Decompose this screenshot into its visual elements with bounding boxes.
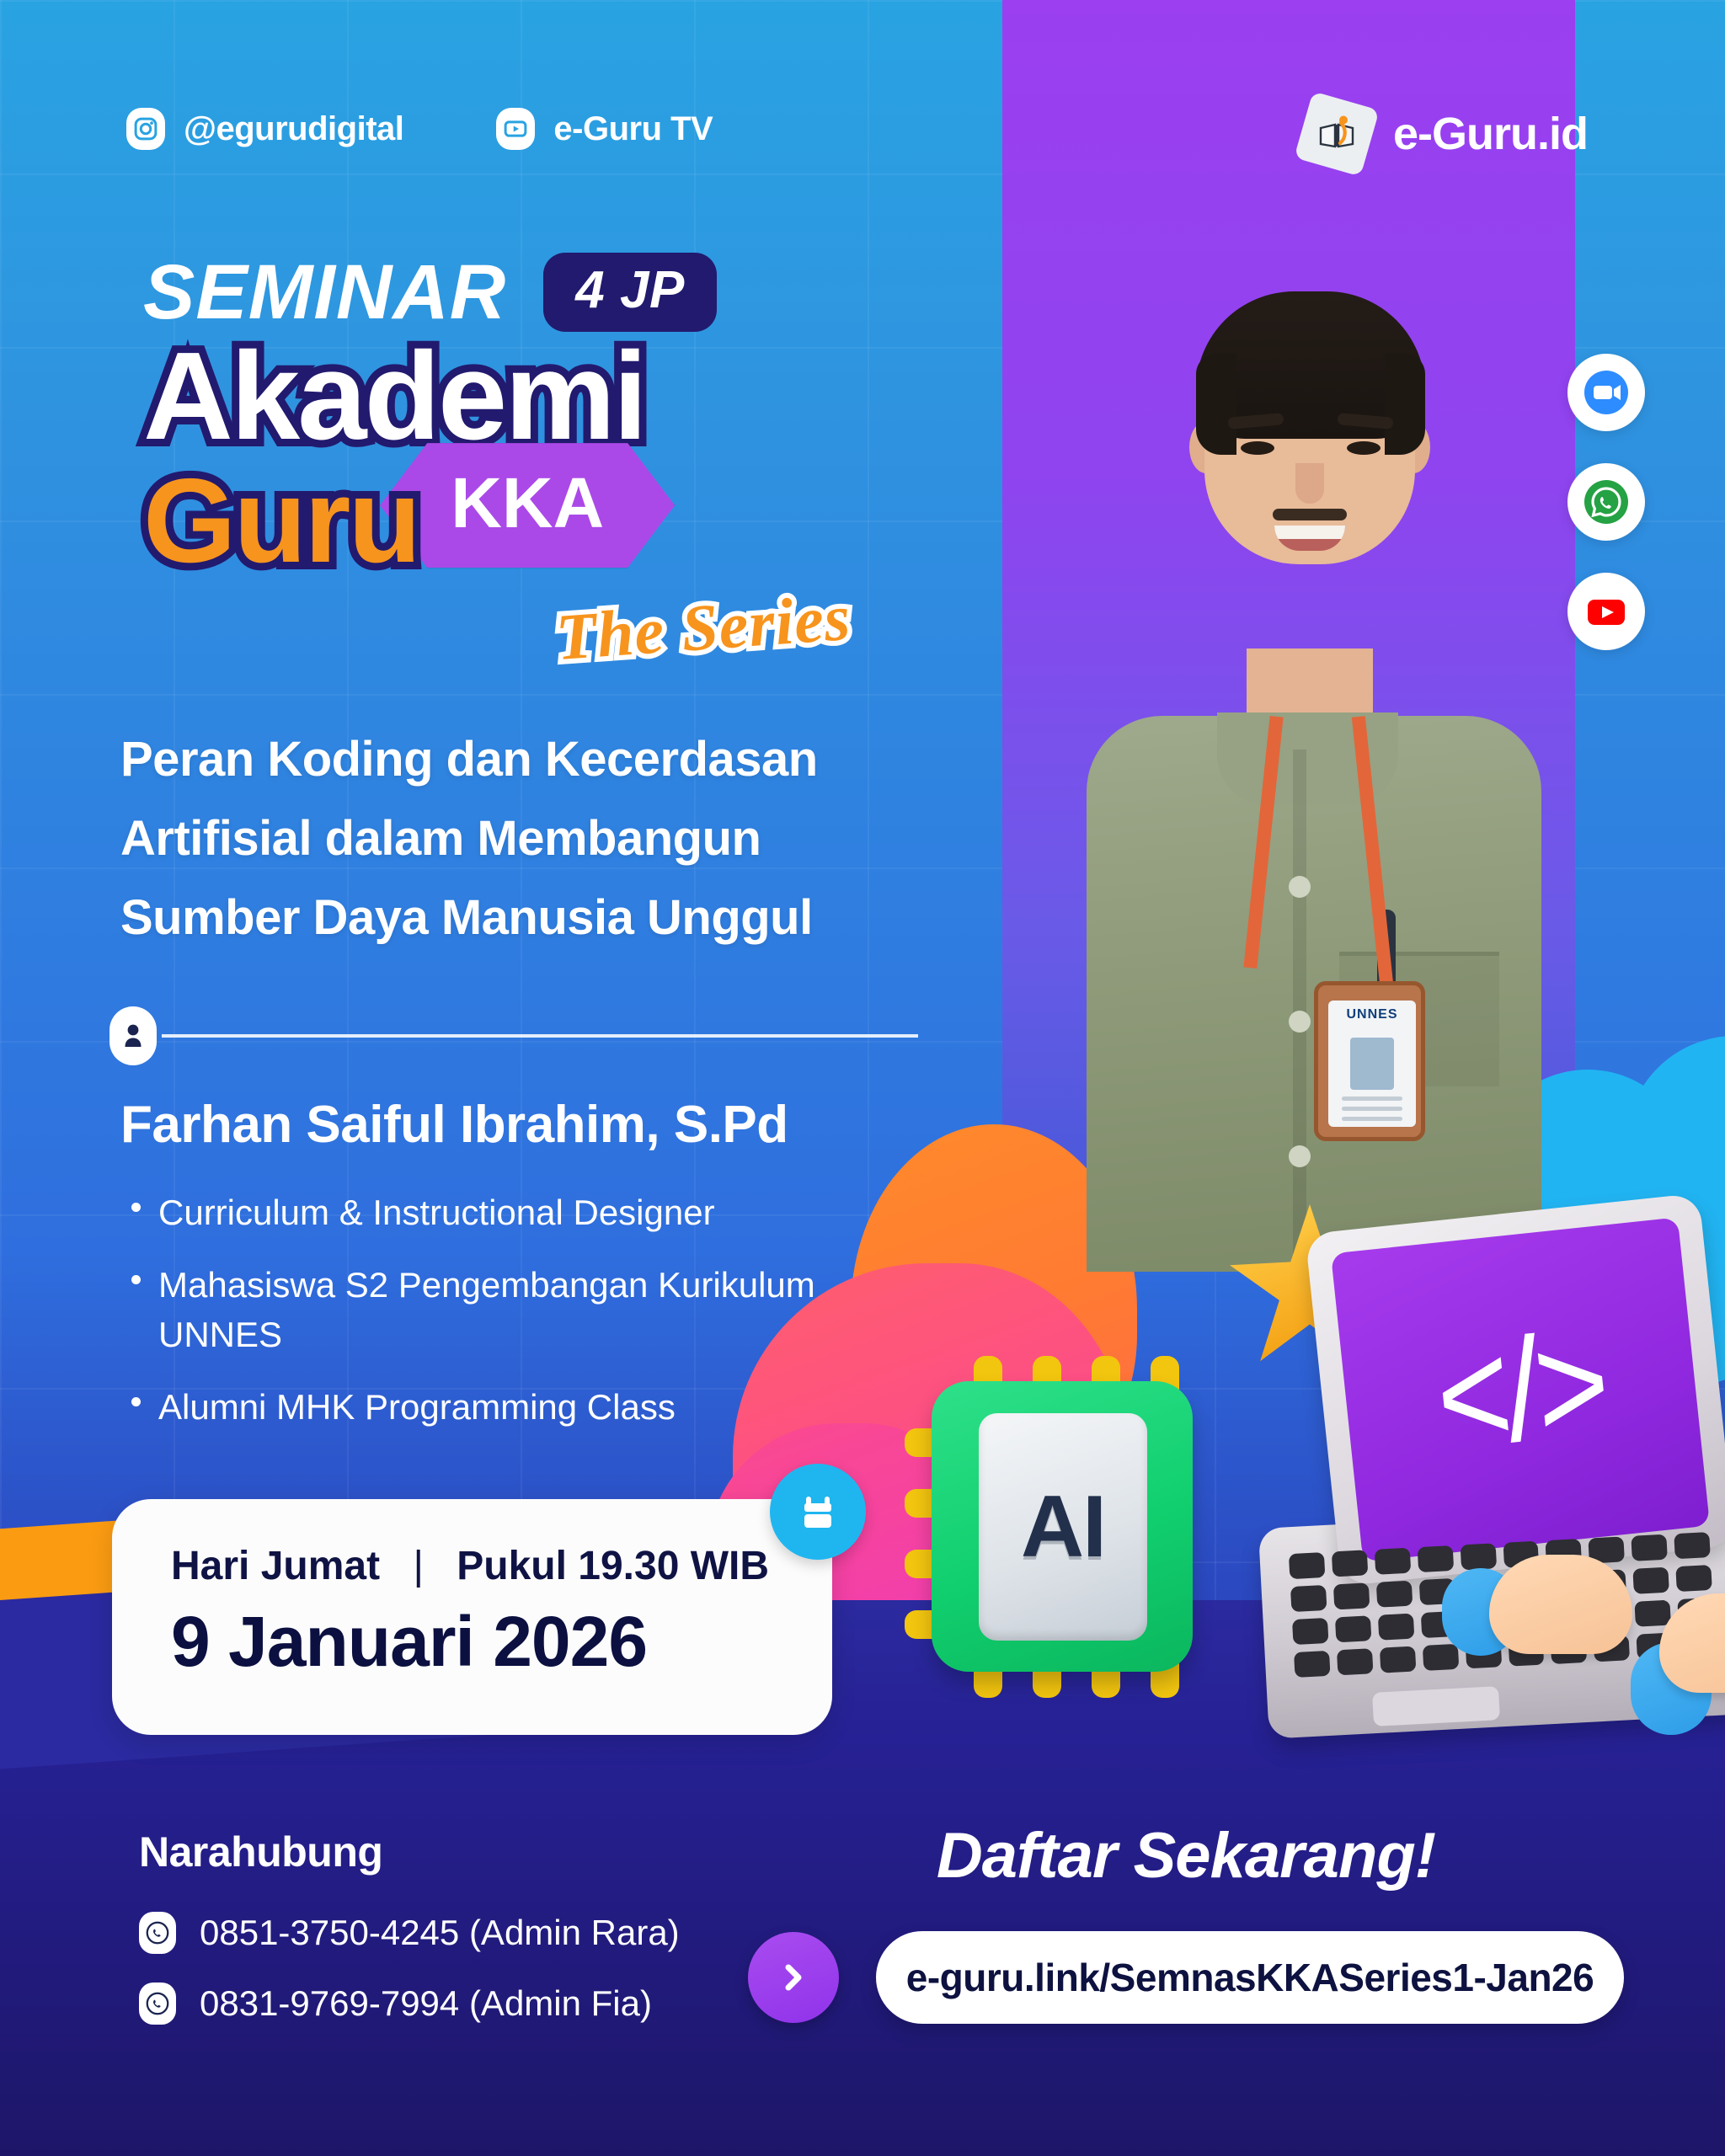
event-time: Pukul 19.30 WIB	[457, 1544, 769, 1588]
subtitle-line-1: Peran Koding dan Kecerdasan	[120, 720, 818, 799]
whatsapp-icon	[139, 1983, 176, 2025]
speaker-photo: UNNES	[1036, 211, 1575, 1263]
whatsapp-icon[interactable]	[1567, 463, 1645, 541]
cta-section: Daftar Sekarang! e-guru.link/SemnasKKASe…	[748, 1819, 1624, 2024]
brand-name: e-Guru.id	[1393, 108, 1588, 160]
zoom-icon[interactable]	[1567, 354, 1645, 431]
event-date: 9 Januari 2026	[171, 1601, 832, 1683]
subtitle-line-2: Artifisial dalam Membangun	[120, 799, 818, 878]
contact-text: 0831-9769-7994 (Admin Fia)	[200, 1983, 652, 2024]
book-logo-icon	[1294, 91, 1379, 176]
event-separator: |	[413, 1544, 423, 1588]
contact-row[interactable]: 0831-9769-7994 (Admin Fia)	[139, 1983, 680, 2025]
contact-row[interactable]: 0851-3750-4245 (Admin Rara)	[139, 1912, 680, 1954]
jp-badge: 4 JP	[543, 253, 717, 332]
registration-link-pill[interactable]: e-guru.link/SemnasKKASeries1-Jan26	[876, 1931, 1624, 2024]
whatsapp-icon	[139, 1912, 176, 1954]
youtube-icon	[496, 108, 535, 150]
seminar-poster: UNNES @egurudigital	[0, 0, 1725, 2156]
seminar-kicker: SEMINAR	[143, 253, 506, 331]
side-social-buttons	[1567, 354, 1645, 650]
seminar-subtitle: Peran Koding dan Kecerdasan Artifisial d…	[120, 720, 818, 958]
youtube-icon[interactable]	[1567, 573, 1645, 650]
ai-chip-label: AI	[1021, 1477, 1105, 1577]
the-series-script: The Series	[553, 579, 853, 675]
header-youtube[interactable]: e-Guru TV	[496, 108, 713, 150]
contact-section: Narahubung 0851-3750-4245 (Admin Rara) 0…	[139, 1828, 680, 2053]
person-icon	[109, 1006, 157, 1065]
brand-logo[interactable]: e-Guru.id	[1302, 99, 1588, 168]
kka-hex-badge: KKA	[380, 443, 675, 568]
ai-chip-plate: AI	[979, 1413, 1147, 1641]
title-line-akademi: Akademi	[143, 337, 717, 456]
header-instagram-label: @egurudigital	[184, 110, 403, 148]
contact-heading: Narahubung	[139, 1828, 680, 1876]
id-badge-text: UNNES	[1328, 1007, 1416, 1022]
cta-link-row[interactable]: e-guru.link/SemnasKKASeries1-Jan26	[748, 1931, 1624, 2024]
event-date-card: Hari Jumat | Pukul 19.30 WIB 9 Januari 2…	[112, 1499, 832, 1735]
laptop-illustration: </>	[1263, 1213, 1725, 1735]
event-day-time: Hari Jumat | Pukul 19.30 WIB	[171, 1543, 832, 1589]
header-youtube-label: e-Guru TV	[553, 110, 713, 148]
speaker-name: Farhan Saiful Ibrahim, S.Pd	[120, 1095, 788, 1155]
instagram-icon	[126, 108, 165, 150]
title-block: SEMINAR 4 JP Akademi Guru KKA	[143, 253, 717, 581]
contact-text: 0851-3750-4245 (Admin Rara)	[200, 1913, 680, 1953]
id-badge: UNNES	[1314, 981, 1425, 1141]
code-glyph: </>	[1429, 1298, 1613, 1482]
chevron-right-icon[interactable]	[748, 1932, 839, 2023]
ai-chip-illustration: AI	[893, 1347, 1230, 1710]
header-social-bar: @egurudigital e-Guru TV	[126, 108, 713, 150]
speaker-credentials: Curriculum & Instructional Designer Maha…	[126, 1187, 868, 1454]
credential-text: Curriculum & Instructional Designer	[158, 1193, 715, 1232]
event-day: Hari Jumat	[171, 1544, 380, 1588]
list-item: Curriculum & Instructional Designer	[126, 1187, 868, 1238]
subtitle-line-3: Sumber Daya Manusia Unggul	[120, 878, 818, 958]
credential-text: Alumni MHK Programming Class	[158, 1387, 676, 1427]
divider-line	[162, 1034, 918, 1038]
registration-link: e-guru.link/SemnasKKASeries1-Jan26	[906, 1955, 1594, 2000]
list-item: Alumni MHK Programming Class	[126, 1382, 868, 1433]
title-line-guru: Guru	[143, 462, 419, 581]
calendar-icon	[770, 1464, 866, 1560]
cta-heading: Daftar Sekarang!	[748, 1819, 1624, 1892]
illustration-cluster: AI </>	[893, 1221, 1725, 1743]
speaker-divider	[109, 1006, 918, 1065]
header-instagram[interactable]: @egurudigital	[126, 108, 403, 150]
credential-text: Mahasiswa S2 Pengembangan Kurikulum UNNE…	[158, 1265, 815, 1355]
kka-label: KKA	[451, 467, 604, 543]
list-item: Mahasiswa S2 Pengembangan Kurikulum UNNE…	[126, 1260, 868, 1360]
